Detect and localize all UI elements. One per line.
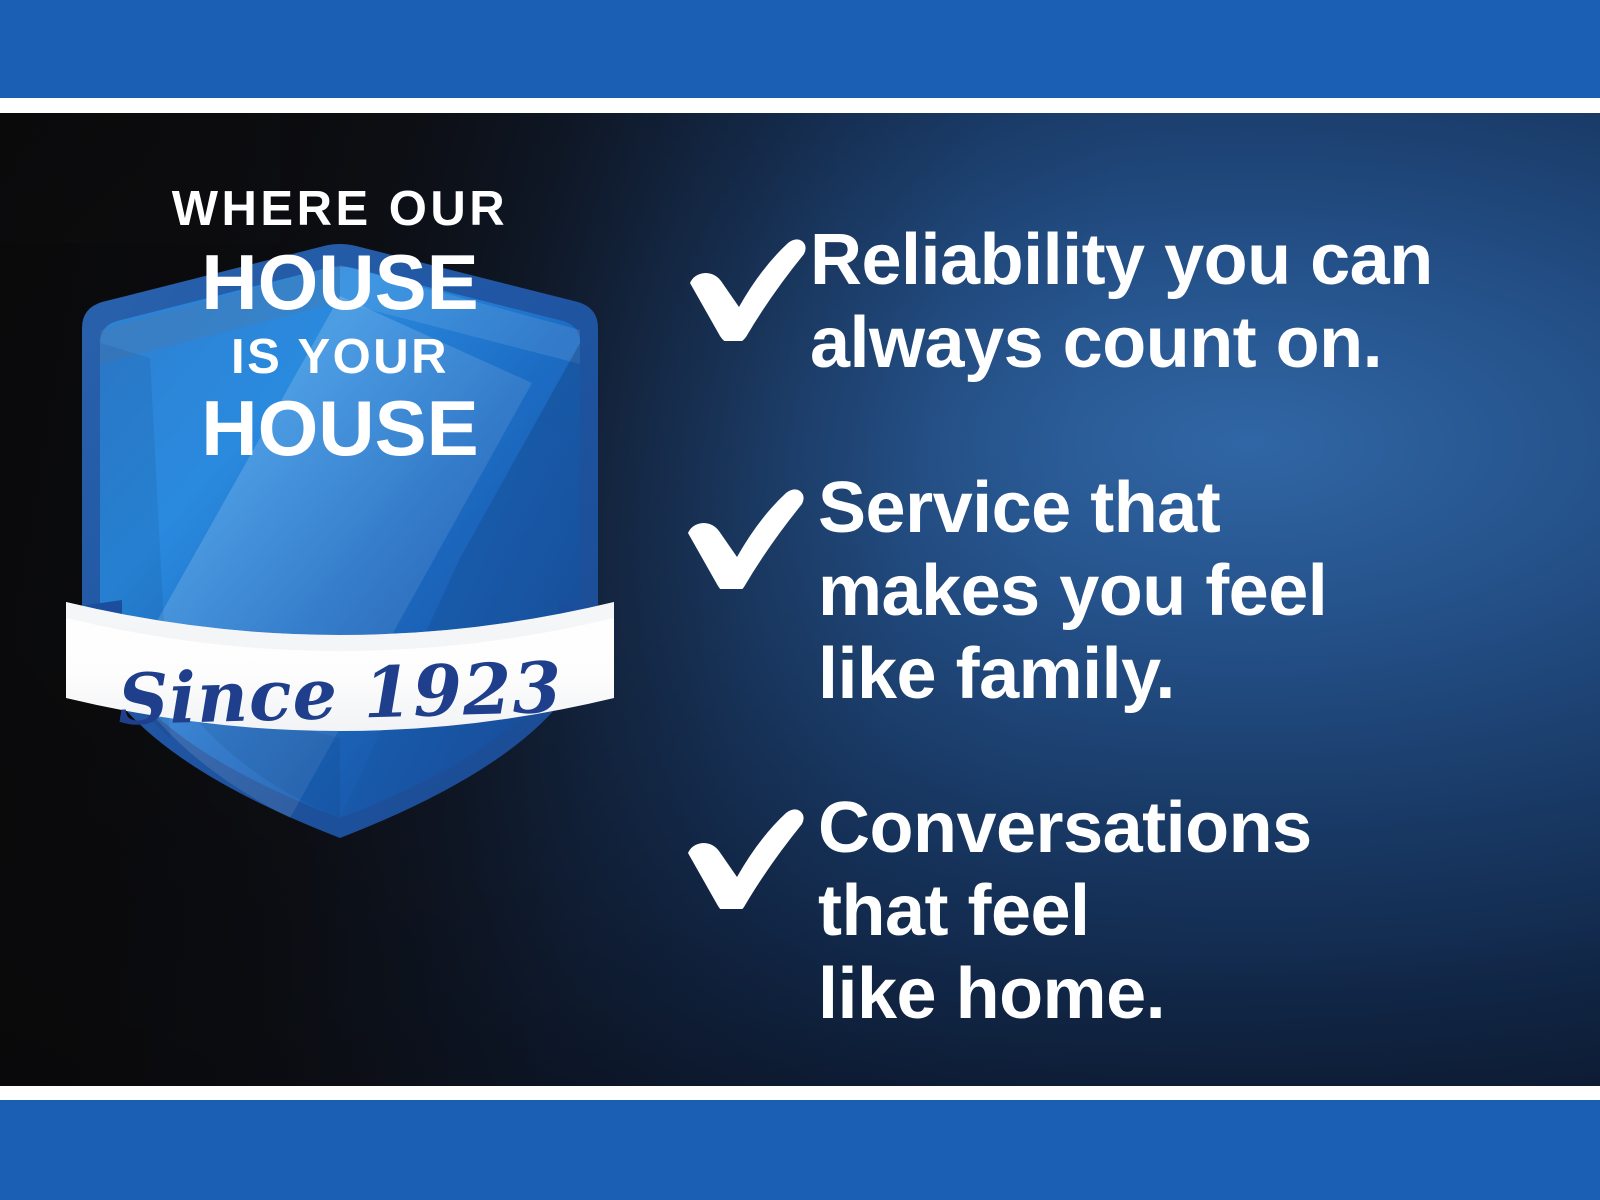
badge-tagline-line-1: Where Our bbox=[100, 185, 580, 234]
top-white-divider bbox=[0, 98, 1600, 113]
badge-tagline-line-4: House bbox=[100, 389, 580, 467]
badge-ribbon-text: Since 1923 bbox=[99, 645, 581, 741]
benefit-text: Service that makes you feel like family. bbox=[810, 465, 1540, 715]
shield-badge: Where Our House Is Your House Since 1923 bbox=[60, 178, 620, 838]
promo-graphic: Where Our House Is Your House Since 1923… bbox=[0, 0, 1600, 1200]
benefit-item: Service that makes you feel like family. bbox=[660, 465, 1540, 715]
check-icon bbox=[660, 789, 810, 909]
benefit-item: Reliability you can always count on. bbox=[660, 217, 1540, 385]
badge-tagline-line-3: Is Your bbox=[100, 333, 580, 382]
check-icon bbox=[660, 221, 810, 341]
benefit-text: Conversations that feel like home. bbox=[810, 785, 1540, 1035]
bottom-white-divider bbox=[0, 1086, 1600, 1100]
top-brand-bar bbox=[0, 0, 1600, 98]
check-icon bbox=[660, 469, 810, 589]
benefit-item: Conversations that feel like home. bbox=[660, 785, 1540, 1035]
bottom-brand-bar bbox=[0, 1100, 1600, 1200]
benefit-text: Reliability you can always count on. bbox=[810, 217, 1540, 385]
badge-tagline-line-2: House bbox=[100, 243, 580, 321]
benefits-list: Reliability you can always count on. Ser… bbox=[660, 113, 1540, 1086]
badge-tagline: Where Our House Is Your House bbox=[100, 185, 580, 467]
